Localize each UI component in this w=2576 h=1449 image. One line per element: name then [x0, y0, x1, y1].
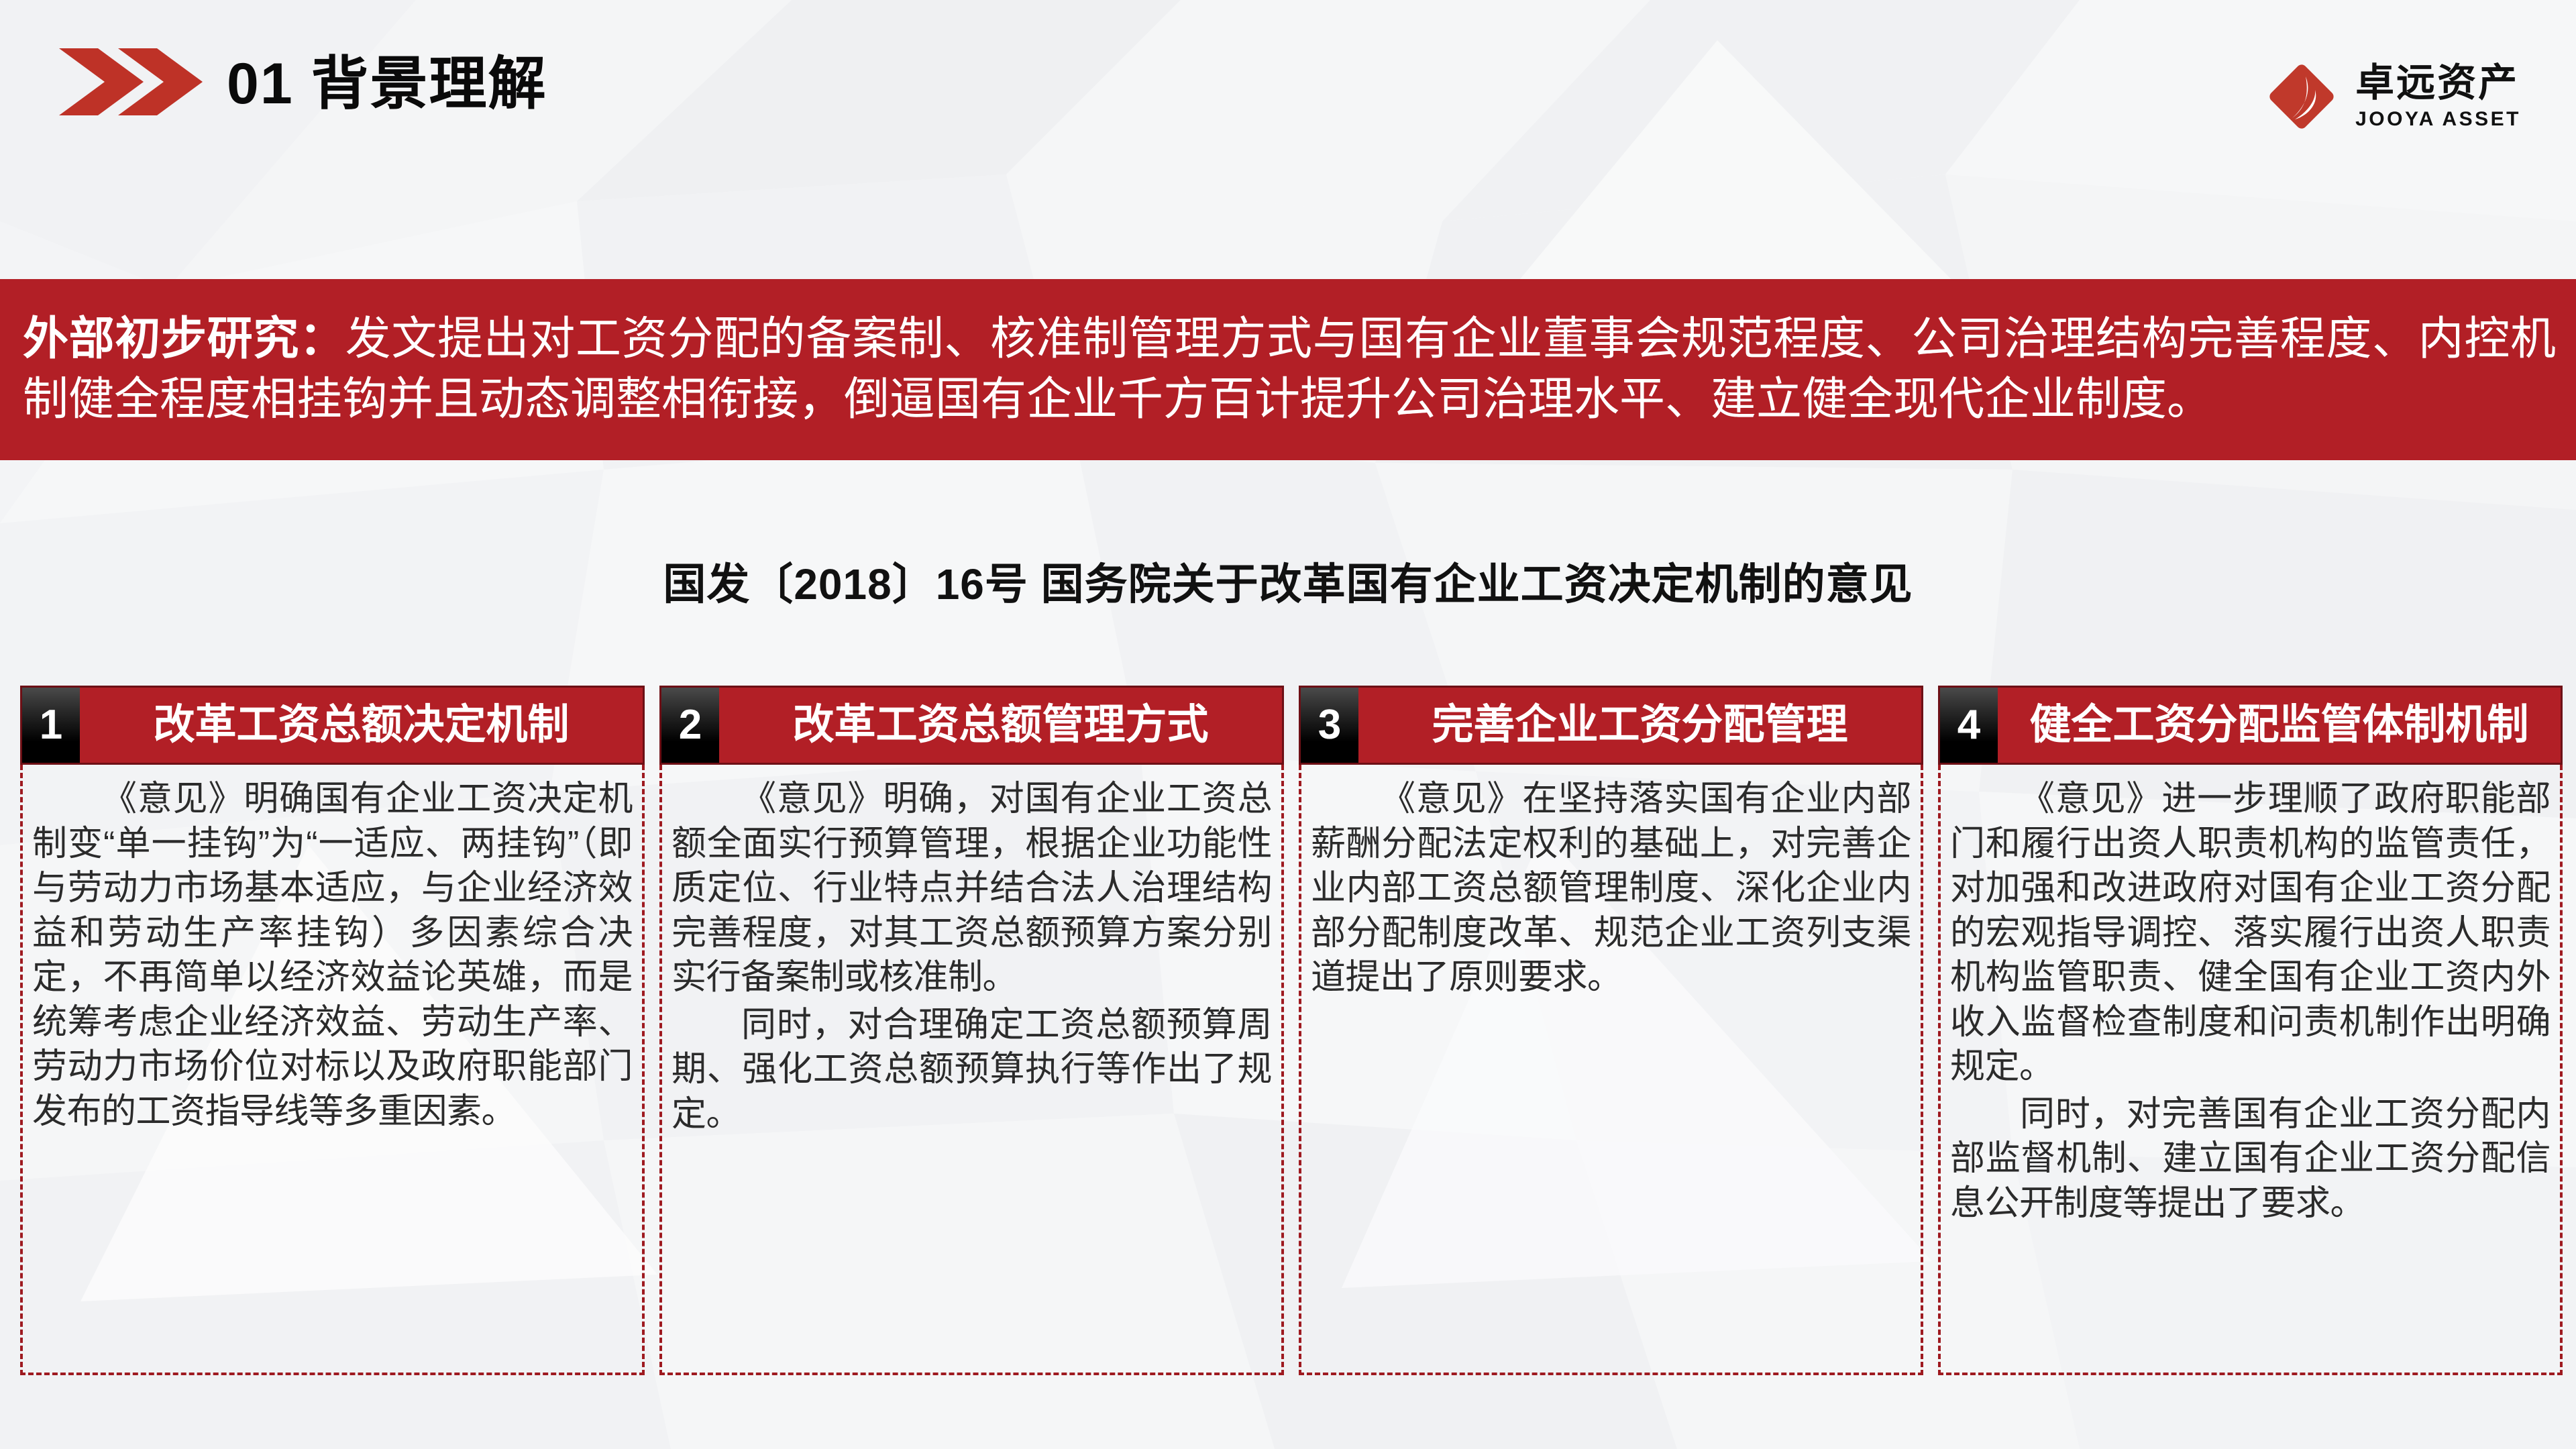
content-columns: 1 改革工资总额决定机制 《意见》明确国有企业工资决定机制变“单一挂钩”为“一适…: [20, 686, 2563, 1375]
document-subtitle: 国发〔2018〕16号 国务院关于改革国有企业工资决定机制的意见: [0, 550, 2576, 612]
column-number-badge-3: 3: [1301, 688, 1358, 763]
column-paragraph: 《意见》在坚持落实国有企业内部薪酬分配法定权利的基础上，对完善企业内部工资总额管…: [1311, 777, 1911, 1000]
banner-text: 外部初步研究：发文提出对工资分配的备案制、核准制管理方式与国有企业董事会规范程度…: [23, 309, 2556, 430]
banner-lead-label: 外部初步研究：: [23, 313, 345, 364]
content-column-3: 3 完善企业工资分配管理 《意见》在坚持落实国有企业内部薪酬分配法定权利的基础上…: [1299, 686, 1923, 1375]
column-heading-3: 完善企业工资分配管理: [1358, 688, 1921, 763]
column-paragraph: 《意见》进一步理顺了政府职能部门和履行出资人职责机构的监管责任，对加强和改进政府…: [1950, 777, 2551, 1089]
slide-header: 01 背景理解 卓远资产 JOOYA ASSET: [0, 0, 2576, 201]
logo-name-en: JOOYA ASSET: [2355, 109, 2521, 129]
column-number-badge-1: 1: [22, 688, 80, 763]
content-column-1: 1 改革工资总额决定机制 《意见》明确国有企业工资决定机制变“单一挂钩”为“一适…: [20, 686, 645, 1375]
column-heading-2: 改革工资总额管理方式: [719, 688, 1282, 763]
column-body-4: 《意见》进一步理顺了政府职能部门和履行出资人职责机构的监管责任，对加强和改进政府…: [1938, 765, 2563, 1375]
column-paragraph: 《意见》明确国有企业工资决定机制变“单一挂钩”为“一适应、两挂钩”（即与劳动力市…: [32, 777, 633, 1134]
column-paragraph: 同时，对合理确定工资总额预算周期、强化工资总额预算执行等作出了规定。: [672, 1003, 1272, 1137]
banner-body-text: 发文提出对工资分配的备案制、核准制管理方式与国有企业董事会规范程度、公司治理结构…: [23, 313, 2556, 425]
double-chevron-right-icon: [59, 48, 203, 119]
content-column-4: 4 健全工资分配监管体制机制 《意见》进一步理顺了政府职能部门和履行出资人职责机…: [1938, 686, 2563, 1375]
brand-logo: 卓远资产 JOOYA ASSET: [2265, 60, 2521, 133]
column-header-3[interactable]: 3 完善企业工资分配管理: [1299, 686, 1923, 765]
column-body-3: 《意见》在坚持落实国有企业内部薪酬分配法定权利的基础上，对完善企业内部工资总额管…: [1299, 765, 1923, 1375]
column-header-1[interactable]: 1 改革工资总额决定机制: [20, 686, 645, 765]
highlight-banner: 外部初步研究：发文提出对工资分配的备案制、核准制管理方式与国有企业董事会规范程度…: [0, 279, 2576, 460]
column-heading-4: 健全工资分配监管体制机制: [1998, 688, 2561, 763]
column-heading-1: 改革工资总额决定机制: [80, 688, 643, 763]
column-body-1: 《意见》明确国有企业工资决定机制变“单一挂钩”为“一适应、两挂钩”（即与劳动力市…: [20, 765, 645, 1375]
column-number-badge-2: 2: [661, 688, 719, 763]
column-paragraph: 《意见》明确，对国有企业工资总额全面实行预算管理，根据企业功能性质定位、行业特点…: [672, 777, 1272, 1000]
column-paragraph: 同时，对完善国有企业工资分配内部监督机制、建立国有企业工资分配信息公开制度等提出…: [1950, 1092, 2551, 1226]
column-number-badge-4: 4: [1940, 688, 1998, 763]
column-header-2[interactable]: 2 改革工资总额管理方式: [659, 686, 1284, 765]
column-header-4[interactable]: 4 健全工资分配监管体制机制: [1938, 686, 2563, 765]
logo-name-cn: 卓远资产: [2355, 64, 2519, 103]
page-title: 01 背景理解: [227, 55, 547, 113]
jooya-diamond-logo-icon: [2265, 60, 2338, 133]
content-column-2: 2 改革工资总额管理方式 《意见》明确，对国有企业工资总额全面实行预算管理，根据…: [659, 686, 1284, 1375]
slide-canvas: 01 背景理解 卓远资产 JOOYA ASSET 外部初步研究：发文提出对工资分…: [0, 0, 2576, 1449]
column-body-2: 《意见》明确，对国有企业工资总额全面实行预算管理，根据企业功能性质定位、行业特点…: [659, 765, 1284, 1375]
